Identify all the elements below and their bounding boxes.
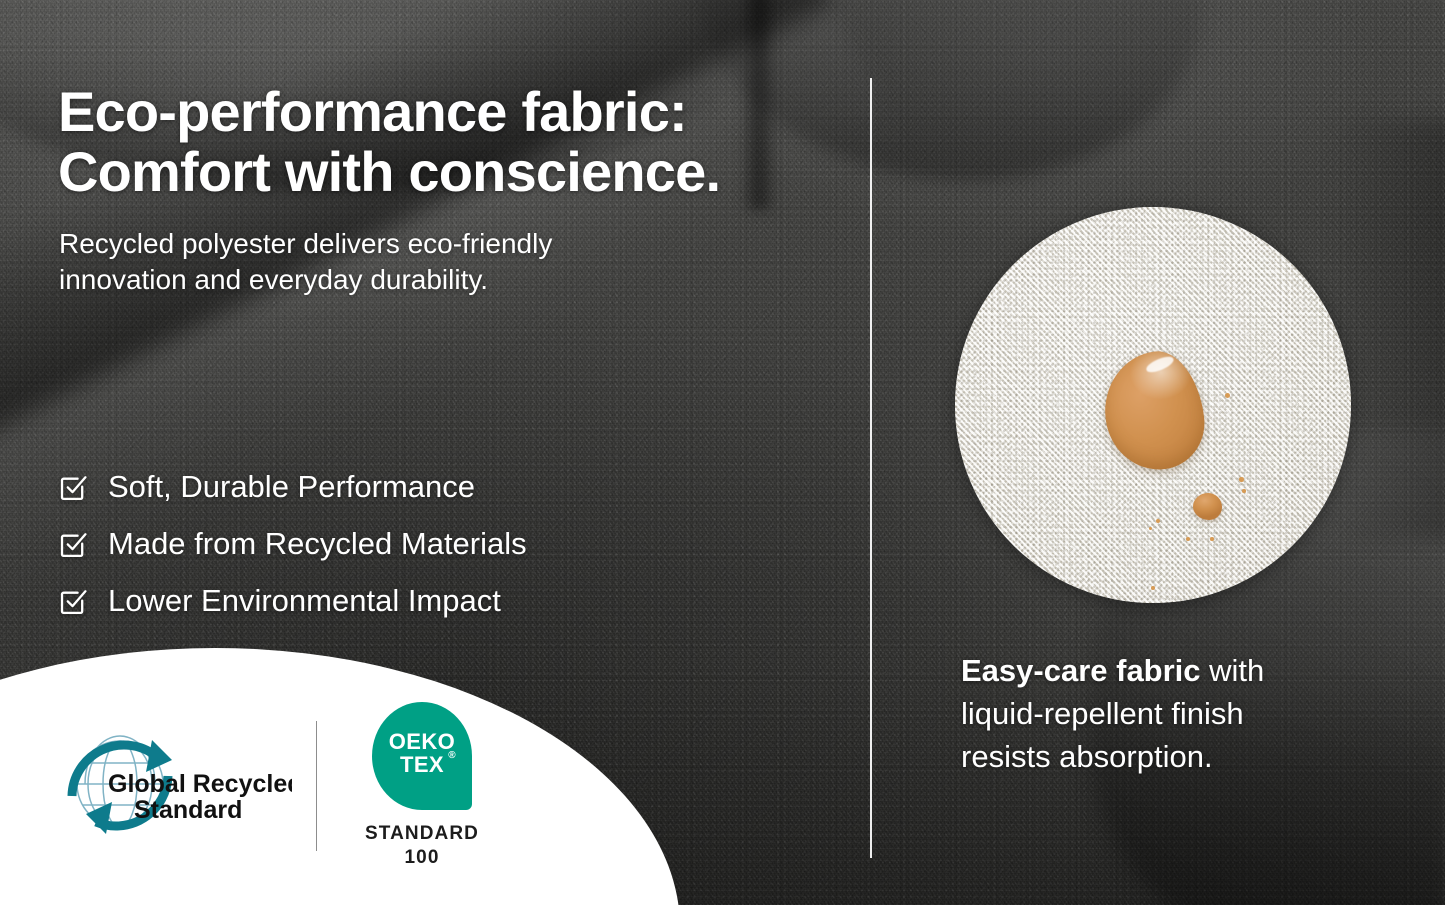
list-item: Made from Recycled Materials	[58, 515, 738, 572]
liquid-speck	[1186, 537, 1190, 541]
oeko-tex-mark: OEKO TEX ®	[372, 702, 472, 810]
checkbox-checked-icon	[58, 530, 88, 560]
list-item: Soft, Durable Performance	[58, 458, 738, 515]
right-caption-line-1: Easy-care fabric with	[961, 650, 1391, 693]
headline: Eco-performance fabric: Comfort with con…	[58, 82, 848, 202]
svg-text:Global Recycled: Global Recycled	[108, 770, 292, 798]
right-caption-emphasis: Easy-care fabric	[961, 653, 1201, 688]
headline-line-1: Eco-performance fabric:	[58, 82, 848, 142]
liquid-speck	[1149, 527, 1152, 530]
vertical-divider	[870, 78, 872, 858]
subheadline-line-1: Recycled polyester delivers eco-friendly	[59, 226, 699, 262]
subheadline: Recycled polyester delivers eco-friendly…	[59, 226, 699, 299]
certification-badges: Global Recycled Standard OEKO TEX ® STAN…	[60, 706, 530, 866]
list-item-label: Lower Environmental Impact	[108, 585, 501, 616]
liquid-speck	[1151, 586, 1155, 590]
registered-trademark-icon: ®	[448, 751, 456, 762]
liquid-speck	[1257, 583, 1261, 587]
product-feature-graphic: Eco-performance fabric: Comfort with con…	[0, 0, 1445, 905]
checkbox-checked-icon	[58, 587, 88, 617]
badge-separator	[316, 721, 317, 851]
liquid-speck	[1210, 537, 1214, 541]
liquid-speck	[1156, 519, 1160, 523]
headline-line-2: Comfort with conscience.	[58, 142, 848, 202]
oeko-tex-mark-line-2: TEX	[400, 752, 444, 777]
liquid-speck	[1239, 477, 1244, 482]
list-item-label: Made from Recycled Materials	[108, 528, 527, 559]
svg-text:Standard: Standard	[134, 796, 242, 824]
liquid-droplet-small	[1193, 493, 1222, 520]
oeko-tex-standard-label: STANDARD	[347, 822, 497, 846]
list-item-label: Soft, Durable Performance	[108, 471, 475, 502]
list-item: Lower Environmental Impact	[58, 572, 738, 629]
fabric-swatch-inset	[955, 207, 1351, 603]
liquid-speck	[1225, 393, 1230, 398]
checkbox-checked-icon	[58, 473, 88, 503]
oeko-tex-logo: OEKO TEX ® STANDARD 100	[347, 702, 497, 870]
oeko-tex-standard-number: 100	[347, 846, 497, 870]
liquid-speck	[1242, 489, 1246, 493]
subheadline-line-2: innovation and everyday durability.	[59, 262, 699, 298]
right-caption-line-2: liquid-repellent finish	[961, 693, 1391, 736]
benefits-checklist: Soft, Durable Performance Made from Recy…	[58, 458, 738, 629]
right-caption-line-1-rest: with	[1201, 653, 1265, 688]
global-recycled-standard-logo: Global Recycled Standard	[60, 730, 292, 842]
oeko-tex-mark-line-1: OEKO	[389, 730, 455, 753]
right-caption-line-3: resists absorption.	[961, 736, 1391, 779]
right-caption: Easy-care fabric with liquid-repellent f…	[961, 650, 1391, 778]
